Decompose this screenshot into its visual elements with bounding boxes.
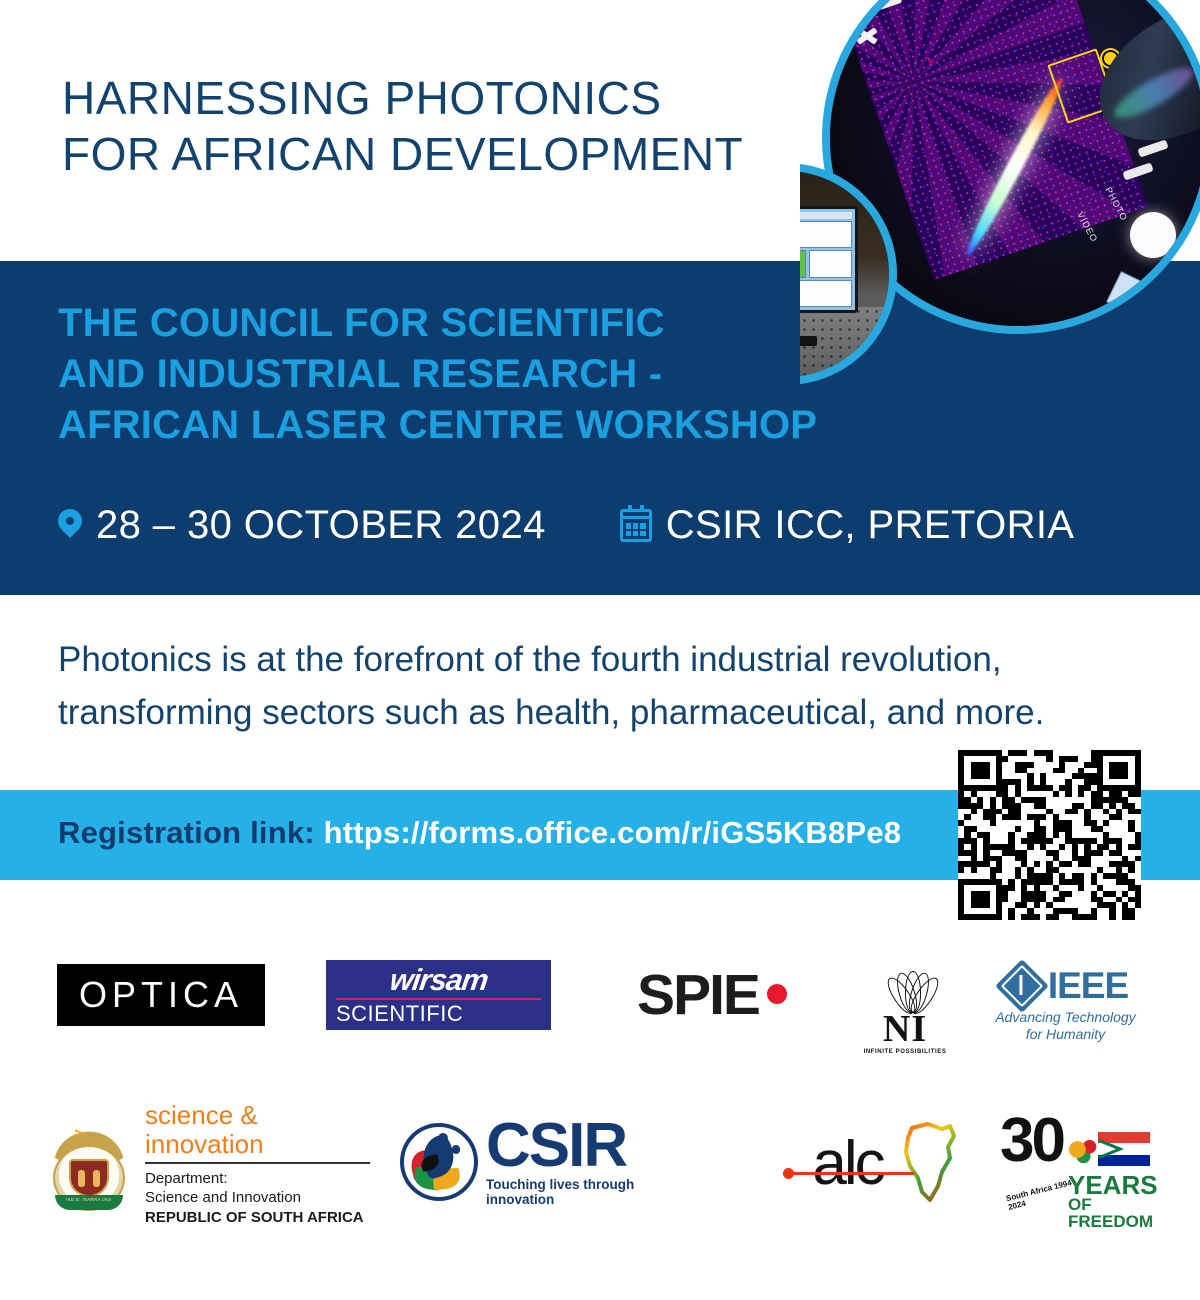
wirsam-rule — [336, 998, 541, 1000]
sponsor-logos-row-2: !KE E: /XARRA //KE science & innovation … — [0, 1100, 1200, 1235]
logo-ieee: IEEE Advancing Technology for Humanity — [983, 958, 1148, 1050]
freedom-number: 30 — [1000, 1110, 1063, 1172]
ieee-kite-icon — [995, 959, 1049, 1013]
event-venue-item: CSIR ICC, PRETORIA — [620, 503, 1075, 548]
event-title-line-2: AND INDUSTRIAL RESEARCH - — [58, 349, 958, 400]
south-africa-flag-icon — [1098, 1132, 1150, 1166]
wirsam-wordmark: wirsam — [388, 966, 490, 996]
registration-link[interactable]: https://forms.office.com/r/iGS5KB8Pe8 — [324, 815, 902, 850]
qr-code-grid — [958, 750, 1141, 920]
ieee-wordmark: IEEE — [1048, 965, 1128, 1007]
headline-line-2: FOR AFRICAN DEVELOPMENT — [62, 126, 762, 182]
dsi-line-1: Department: — [145, 1169, 375, 1189]
dsi-line-2: Science and Innovation — [145, 1188, 375, 1208]
csir-emblem-icon — [400, 1123, 478, 1201]
ni-tagline: INFINITE POSSIBILITIES — [864, 1049, 947, 1055]
logo-ni: NI INFINITE POSSIBILITIES — [856, 955, 954, 1055]
calendar-icon — [620, 509, 652, 542]
registration-label: Registration link: — [58, 815, 315, 850]
logo-csir: CSIR Touching lives through innovation — [400, 1112, 700, 1212]
description-line-2: transforming sectors such as health, pha… — [58, 686, 1138, 739]
event-venue: CSIR ICC, PRETORIA — [666, 503, 1075, 548]
description-text: Photonics is at the forefront of the fou… — [58, 633, 1138, 739]
event-title: THE COUNCIL FOR SCIENTIFIC AND INDUSTRIA… — [58, 298, 958, 452]
logo-african-laser-centre: alc — [740, 1118, 955, 1210]
dsi-title: science & innovation — [145, 1101, 375, 1158]
wirsam-subtitle: SCIENTIFIC — [336, 1003, 463, 1025]
headline-line-1: HARNESSING PHOTONICS — [62, 70, 762, 126]
alc-wordmark: alc — [812, 1133, 882, 1195]
page-title: HARNESSING PHOTONICS FOR AFRICAN DEVELOP… — [62, 70, 762, 182]
ieee-tagline-line-1: Advancing Technology — [995, 1009, 1135, 1025]
qr-code[interactable] — [958, 750, 1141, 920]
logo-spie: SPIE — [607, 962, 817, 1028]
ni-wordmark: NI — [883, 1011, 927, 1047]
sponsor-logos-row-1: OPTICA wirsam SCIENTIFIC SPIE NI INFINIT… — [0, 950, 1200, 1065]
dsi-line-3: REPUBLIC OF SOUTH AFRICA — [145, 1208, 375, 1228]
logo-department-science-innovation: !KE E: /XARRA //KE science & innovation … — [45, 1105, 375, 1223]
camera-close-icon — [856, 25, 876, 45]
logo-optica: OPTICA — [57, 964, 265, 1026]
logo-wirsam-scientific: wirsam SCIENTIFIC — [326, 960, 551, 1030]
logo-30-years-of-freedom: 30 South Africa 1994 - 2024 YEARS OF FRE… — [1000, 1110, 1165, 1220]
south-africa-coat-of-arms-icon: !KE E: /XARRA //KE — [45, 1111, 133, 1217]
csir-wordmark: CSIR — [486, 1117, 626, 1174]
alc-laser-beam-icon — [792, 1172, 914, 1175]
coat-of-arms-motto: !KE E: /XARRA //KE — [55, 1197, 123, 1202]
description-line-1: Photonics is at the forefront of the fou… — [58, 633, 1138, 686]
event-title-line-3: AFRICAN LASER CENTRE WORKSHOP — [58, 400, 958, 451]
ieee-tagline: Advancing Technology for Humanity — [995, 1009, 1135, 1044]
event-date: 28 – 30 OCTOBER 2024 — [96, 503, 546, 548]
event-title-line-1: THE COUNCIL FOR SCIENTIFIC — [58, 298, 958, 349]
location-pin-icon — [58, 509, 82, 543]
freedom-of-freedom-label: OF FREEDOM — [1068, 1196, 1165, 1230]
ni-flame-icon — [874, 969, 936, 1013]
ieee-tagline-line-2: for Humanity — [1026, 1026, 1105, 1042]
spie-dot-icon — [767, 984, 787, 1004]
africa-map-icon — [898, 1120, 960, 1204]
csir-tagline: Touching lives through innovation — [486, 1177, 700, 1207]
optica-wordmark: OPTICA — [79, 974, 243, 1016]
event-meta: 28 – 30 OCTOBER 2024 CSIR ICC, PRETORIA — [58, 503, 1075, 548]
dsi-divider — [145, 1162, 370, 1164]
registration-line: Registration link: https://forms.office.… — [58, 815, 901, 851]
event-date-item: 28 – 30 OCTOBER 2024 — [58, 503, 546, 548]
spie-wordmark: SPIE — [637, 962, 759, 1028]
